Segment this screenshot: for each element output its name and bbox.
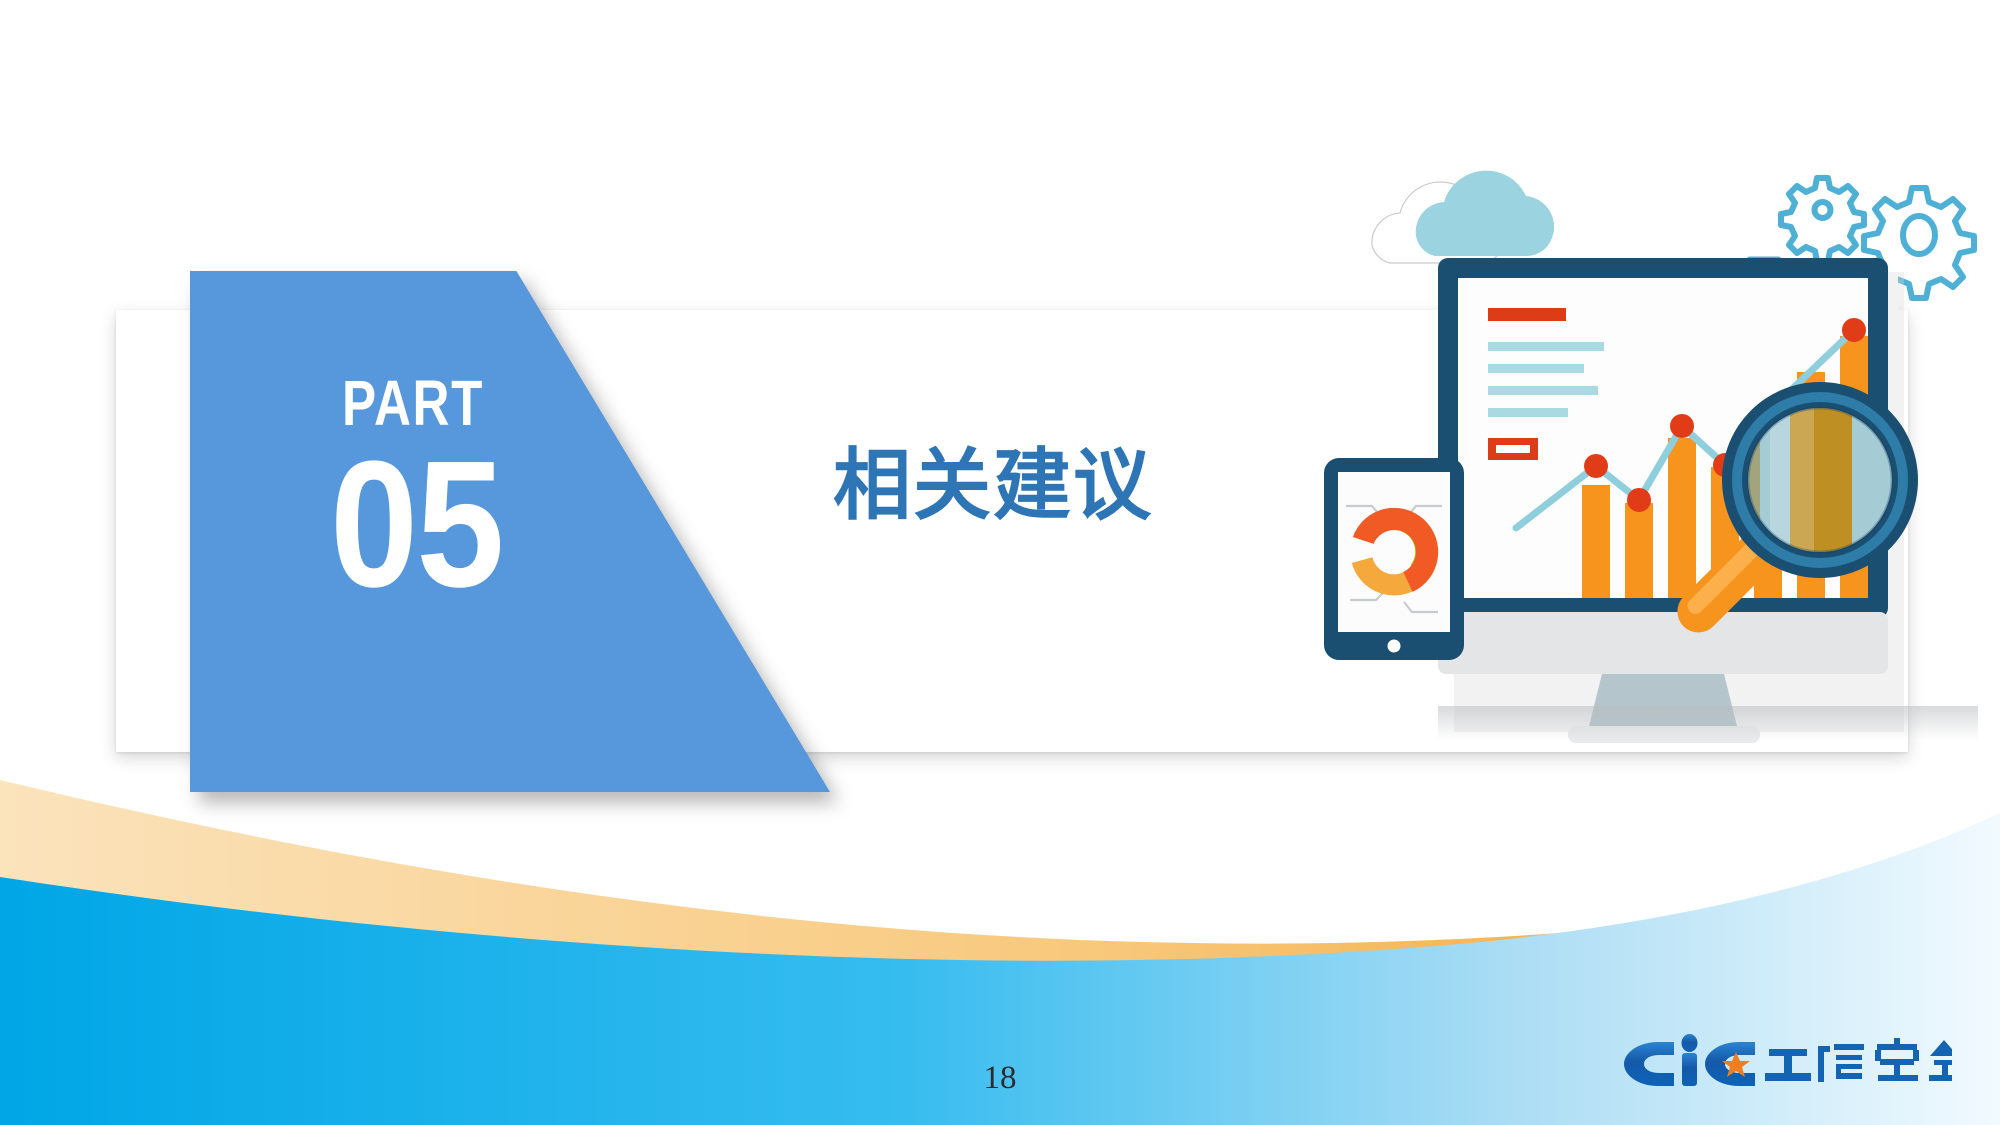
logo-letter-c bbox=[1624, 1042, 1674, 1086]
logo-wordmark bbox=[1765, 1038, 1952, 1082]
part-badge-shape bbox=[190, 271, 830, 792]
cloud-icon bbox=[1372, 171, 1554, 263]
logo-letter-i-stem bbox=[1682, 1053, 1697, 1086]
logo-letter-i-dot bbox=[1682, 1034, 1698, 1052]
page-title: 相关建议 bbox=[833, 446, 1153, 524]
slide-root: PART 05 相关建议 bbox=[0, 0, 2000, 1125]
part-number: 05 bbox=[330, 435, 503, 615]
part-badge[interactable]: PART 05 bbox=[190, 271, 830, 792]
brand-logo: CIC 工信安全 bbox=[1612, 1030, 1952, 1098]
